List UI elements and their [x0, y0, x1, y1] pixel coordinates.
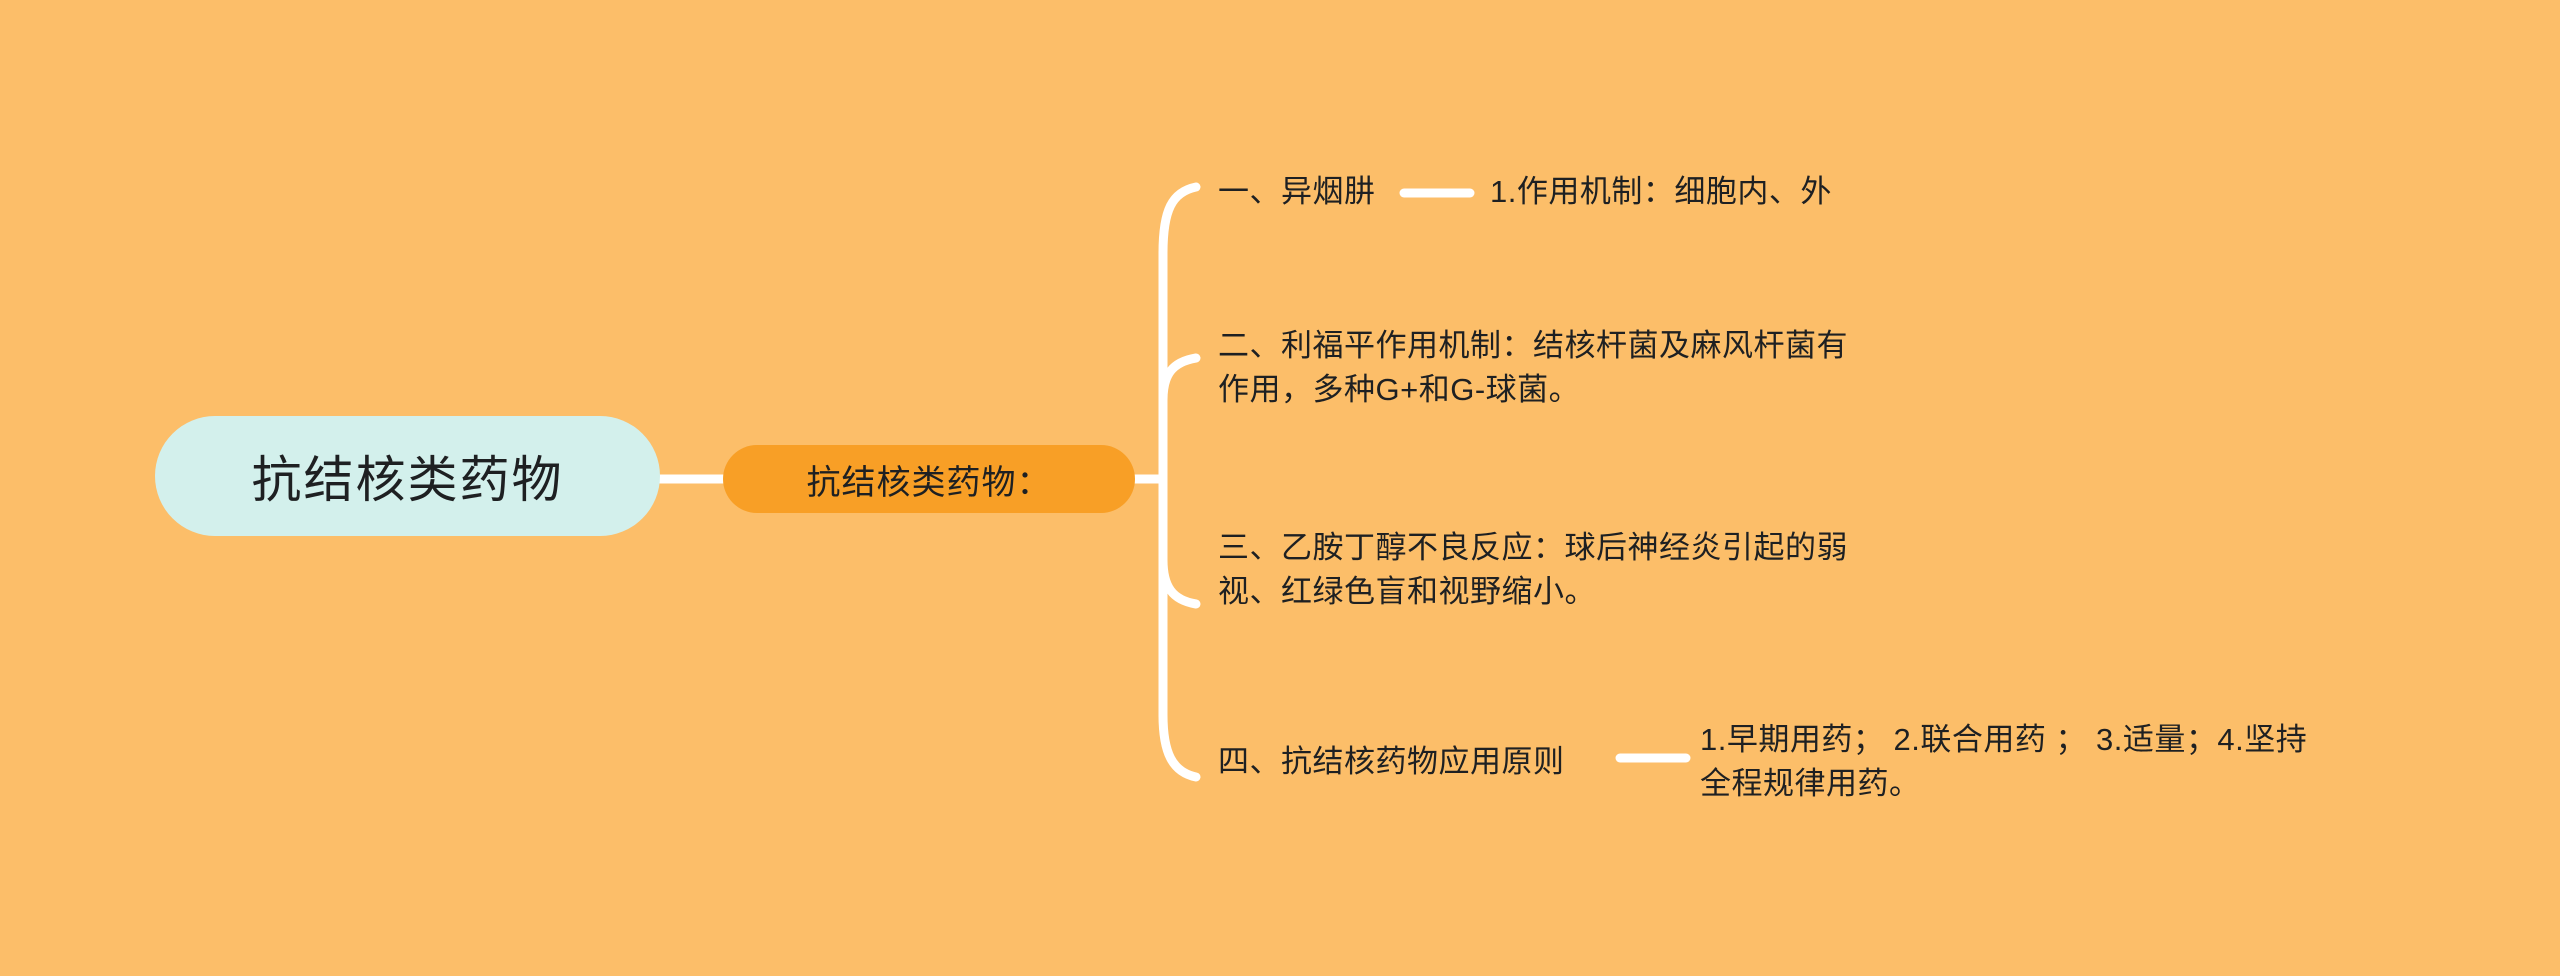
branch-3-label[interactable]: 三、乙胺丁醇不良反应：球后神经炎引起的弱 视、红绿色盲和视野缩小。	[1218, 526, 1958, 614]
branch-2-label[interactable]: 二、利福平作用机制：结核杆菌及麻风杆菌有 作用，多种G+和G-球菌。	[1218, 324, 1958, 412]
branch-4-child-label[interactable]: 1.早期用药； 2.联合用药 ； 3.适量；4.坚持 全程规律用药。	[1700, 718, 2440, 806]
connector-spine-to-branch-1	[1163, 187, 1196, 253]
mindmap-canvas: 抗结核类药物 抗结核类药物： 一、异烟肼 1.作用机制：细胞内、外 二、利福平作…	[0, 0, 2560, 976]
branch-1-child-label[interactable]: 1.作用机制：细胞内、外	[1490, 170, 2190, 214]
level2-node[interactable]: 抗结核类药物：	[723, 445, 1135, 513]
root-node[interactable]: 抗结核类药物	[155, 416, 660, 536]
connector-spine-to-branch-3	[1163, 560, 1196, 604]
connector-spine-to-branch-2	[1163, 358, 1196, 400]
level2-node-label: 抗结核类药物：	[807, 455, 1052, 504]
branch-4-label[interactable]: 四、抗结核药物应用原则	[1218, 740, 1668, 784]
root-node-label: 抗结核类药物	[252, 440, 564, 512]
connector-spine-to-branch-4	[1163, 715, 1196, 777]
branch-1-label[interactable]: 一、异烟肼	[1218, 170, 1478, 214]
